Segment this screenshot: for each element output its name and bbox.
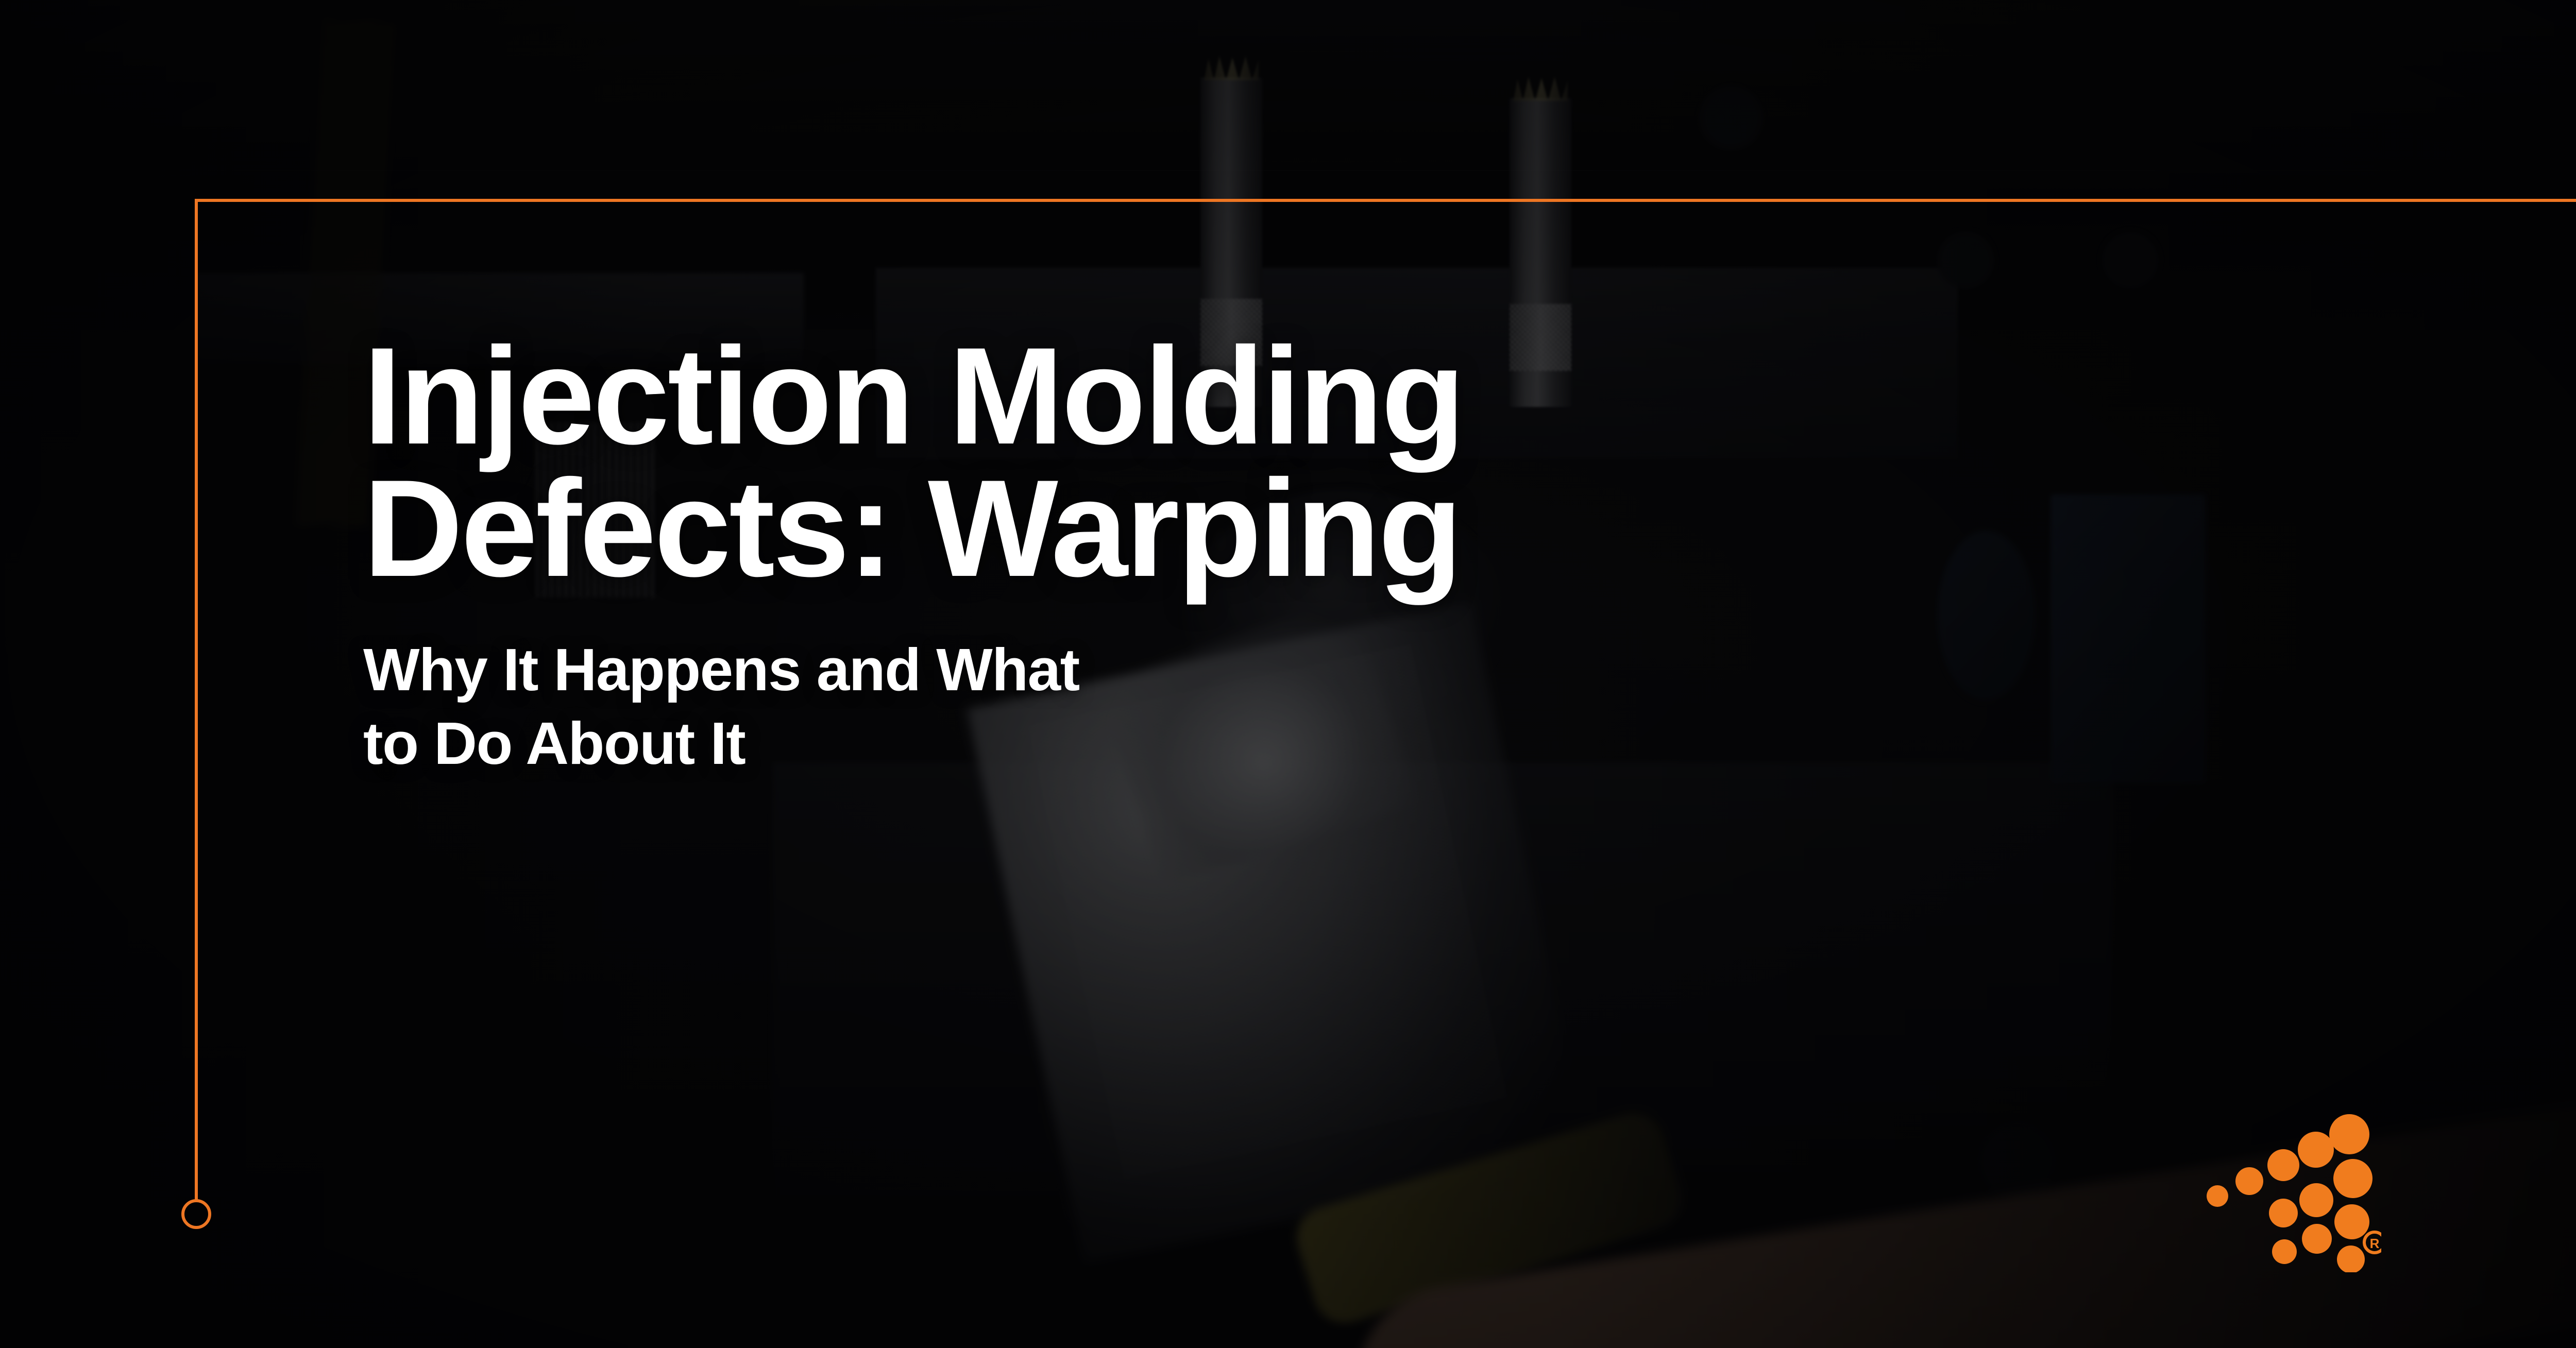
page-subtitle: Why It Happens and What to Do About It <box>363 633 2269 781</box>
logo-dot-arrow-icon: R <box>2206 1102 2381 1272</box>
page-title: Injection Molding Defects: Warping <box>363 330 2269 595</box>
registered-trademark-icon: R <box>2364 1232 2381 1253</box>
page-title-line-1: Injection Molding <box>363 330 2269 462</box>
page-title-line-2: Defects: Warping <box>363 462 2269 594</box>
page-subtitle-line-1: Why It Happens and What <box>363 633 2269 707</box>
orange-left-rule <box>195 199 198 1201</box>
hero-text-block: Injection Molding Defects: Warping Why I… <box>363 330 2269 781</box>
orange-end-circle <box>181 1199 211 1229</box>
page-subtitle-line-2: to Do About It <box>363 707 2269 781</box>
svg-text:R: R <box>2370 1236 2380 1251</box>
hero-banner: Injection Molding Defects: Warping Why I… <box>0 0 2576 1348</box>
protolabs-dot-arrow-logo[interactable]: R <box>2206 1102 2381 1272</box>
orange-top-rule <box>195 199 2576 202</box>
